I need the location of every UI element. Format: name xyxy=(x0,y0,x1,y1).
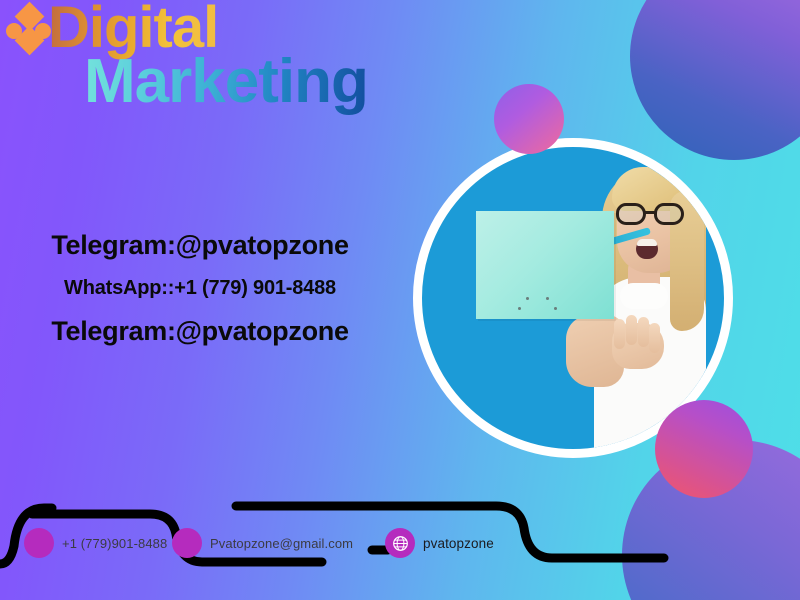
glasses-lens-left xyxy=(616,203,646,225)
finger xyxy=(614,319,625,349)
headline-marketing: Marketing xyxy=(84,46,368,117)
finger xyxy=(626,315,637,345)
diamond-cluster-logo-icon xyxy=(6,8,52,54)
teeth xyxy=(637,239,657,246)
footer-item-phone[interactable]: +1 (779)901-8488 xyxy=(24,528,167,558)
decorative-circle-pink-bottom xyxy=(655,400,753,498)
glasses-bridge xyxy=(645,211,655,214)
hand-holding-board xyxy=(612,323,664,369)
footer-email-label: Pvatopzone@gmail.com xyxy=(210,536,353,551)
finger xyxy=(638,317,649,347)
decorative-circle-pink-top xyxy=(494,84,564,154)
phone-dot-icon xyxy=(24,528,54,558)
board-hole xyxy=(526,297,529,300)
collar xyxy=(620,283,668,309)
decorative-circle-top-right xyxy=(630,0,800,160)
footer-item-email[interactable]: Pvatopzone@gmail.com xyxy=(172,528,353,558)
footer-phone-label: +1 (779)901-8488 xyxy=(62,536,167,551)
footer-item-website[interactable]: pvatopzone xyxy=(385,528,494,558)
telegram-handle-primary: Telegram:@pvatopzone xyxy=(0,222,400,268)
telegram-handle-secondary: Telegram:@pvatopzone xyxy=(0,308,400,354)
footer-website-label: pvatopzone xyxy=(423,536,494,551)
board-hole xyxy=(546,297,549,300)
whatsapp-number: WhatsApp::+1 (779) 901-8488 xyxy=(0,268,400,308)
eyeglasses-icon xyxy=(616,203,690,225)
board-hole xyxy=(554,307,557,310)
finger xyxy=(649,323,660,353)
mint-board xyxy=(476,211,614,319)
glasses-lens-right xyxy=(654,203,684,225)
board-hole xyxy=(518,307,521,310)
portrait-photo-inner xyxy=(422,147,724,449)
globe-icon xyxy=(385,528,415,558)
email-dot-icon xyxy=(172,528,202,558)
contact-text-block: Telegram:@pvatopzone WhatsApp::+1 (779) … xyxy=(0,222,400,354)
digital-marketing-banner: Digital Marketing Telegram:@pvatopzone W… xyxy=(0,0,800,600)
